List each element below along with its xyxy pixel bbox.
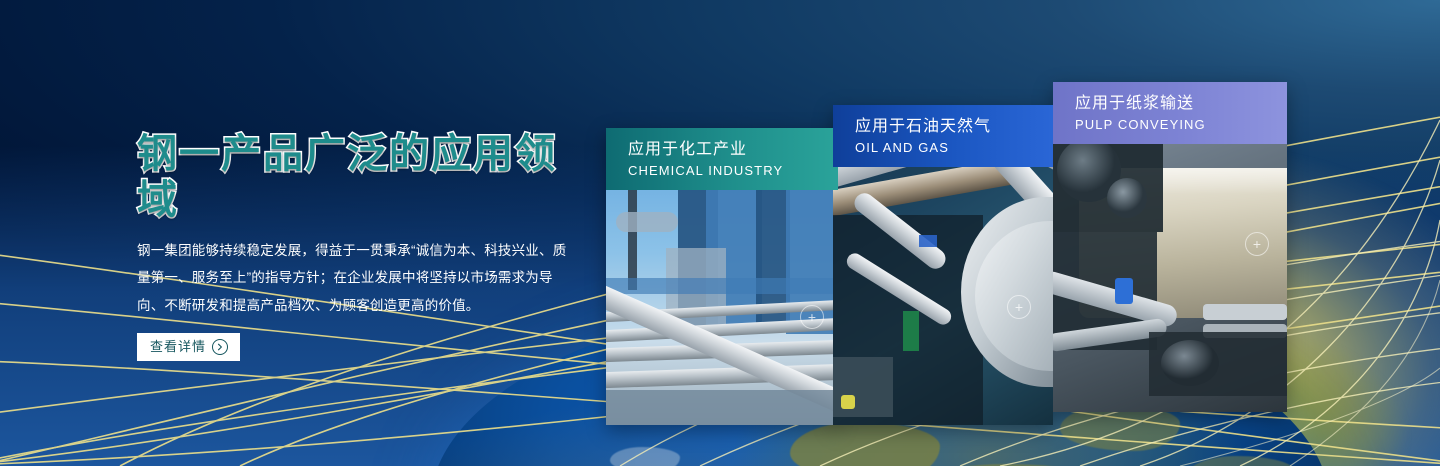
banner-description: 钢一集团能够持续稳定发展，得益于一贯秉承“诚信为本、科技兴业、质量第一、服务至上…: [137, 237, 577, 319]
card-chemical-industry[interactable]: 应用于化工产业 CHEMICAL INDUSTRY +: [606, 128, 838, 425]
card-pulp-title-cn: 应用于纸浆输送: [1075, 93, 1287, 115]
view-details-label: 查看详情: [150, 340, 206, 353]
card-oil-and-gas[interactable]: 应用于石油天然气 OIL AND GAS +: [833, 105, 1053, 425]
card-oil-title-cn: 应用于石油天然气: [855, 116, 1053, 138]
banner-copy: 钢一产品广泛的应用领域 钢一集团能够持续稳定发展，得益于一贯秉承“诚信为本、科技…: [137, 131, 587, 361]
plus-icon[interactable]: +: [1245, 232, 1269, 256]
card-oil-title-en: OIL AND GAS: [855, 139, 1053, 157]
card-pulp-title-en: PULP CONVEYING: [1075, 116, 1287, 134]
card-chemical-title-en: CHEMICAL INDUSTRY: [628, 162, 838, 180]
view-details-button[interactable]: 查看详情: [137, 333, 240, 361]
card-pulp-caption: 应用于纸浆输送 PULP CONVEYING: [1053, 82, 1287, 144]
arrow-right-circle-icon: [212, 339, 228, 355]
card-oil-caption: 应用于石油天然气 OIL AND GAS: [833, 105, 1053, 167]
card-chemical-caption: 应用于化工产业 CHEMICAL INDUSTRY: [606, 128, 838, 190]
hero-banner: 钢一产品广泛的应用领域 钢一集团能够持续稳定发展，得益于一贯秉承“诚信为本、科技…: [0, 0, 1440, 466]
plus-icon[interactable]: +: [1007, 295, 1031, 319]
card-pulp-conveying[interactable]: 应用于纸浆输送 PULP CONVEYING +: [1053, 82, 1287, 412]
plus-icon[interactable]: +: [800, 305, 824, 329]
card-chemical-title-cn: 应用于化工产业: [628, 139, 838, 161]
page-title: 钢一产品广泛的应用领域: [137, 131, 587, 223]
